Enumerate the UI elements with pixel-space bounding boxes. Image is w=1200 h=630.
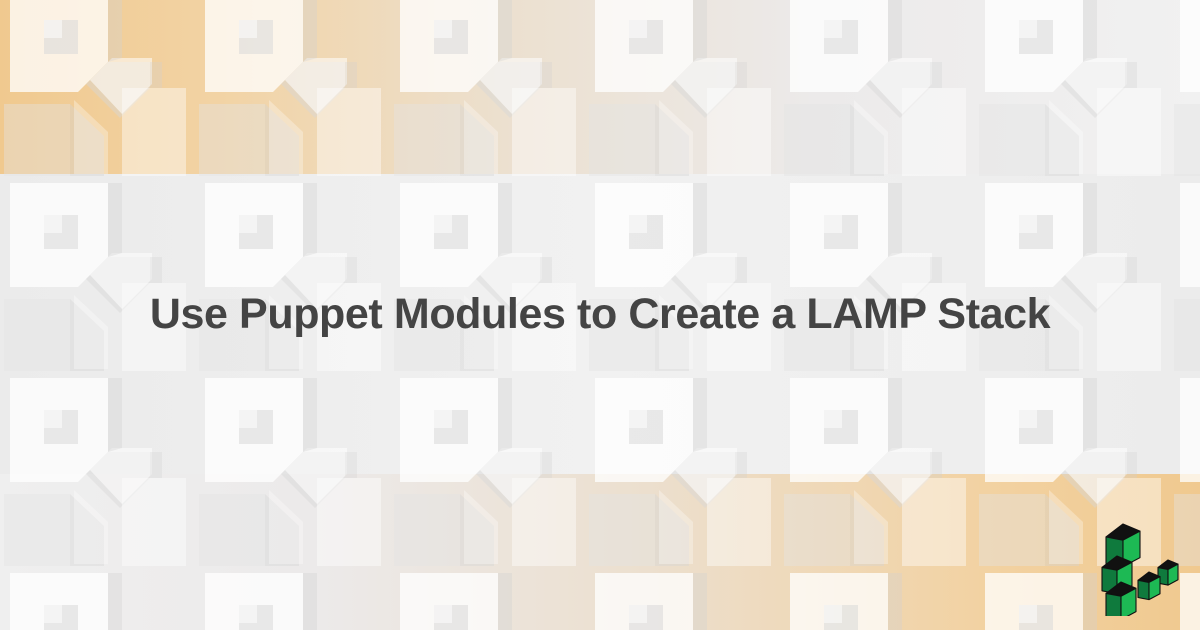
social-share-banner: Use Puppet Modules to Create a LAMP Stac… <box>0 0 1200 630</box>
linode-cubes-logo <box>1088 516 1188 616</box>
title-container: Use Puppet Modules to Create a LAMP Stac… <box>0 0 1200 630</box>
page-title: Use Puppet Modules to Create a LAMP Stac… <box>150 291 1050 338</box>
